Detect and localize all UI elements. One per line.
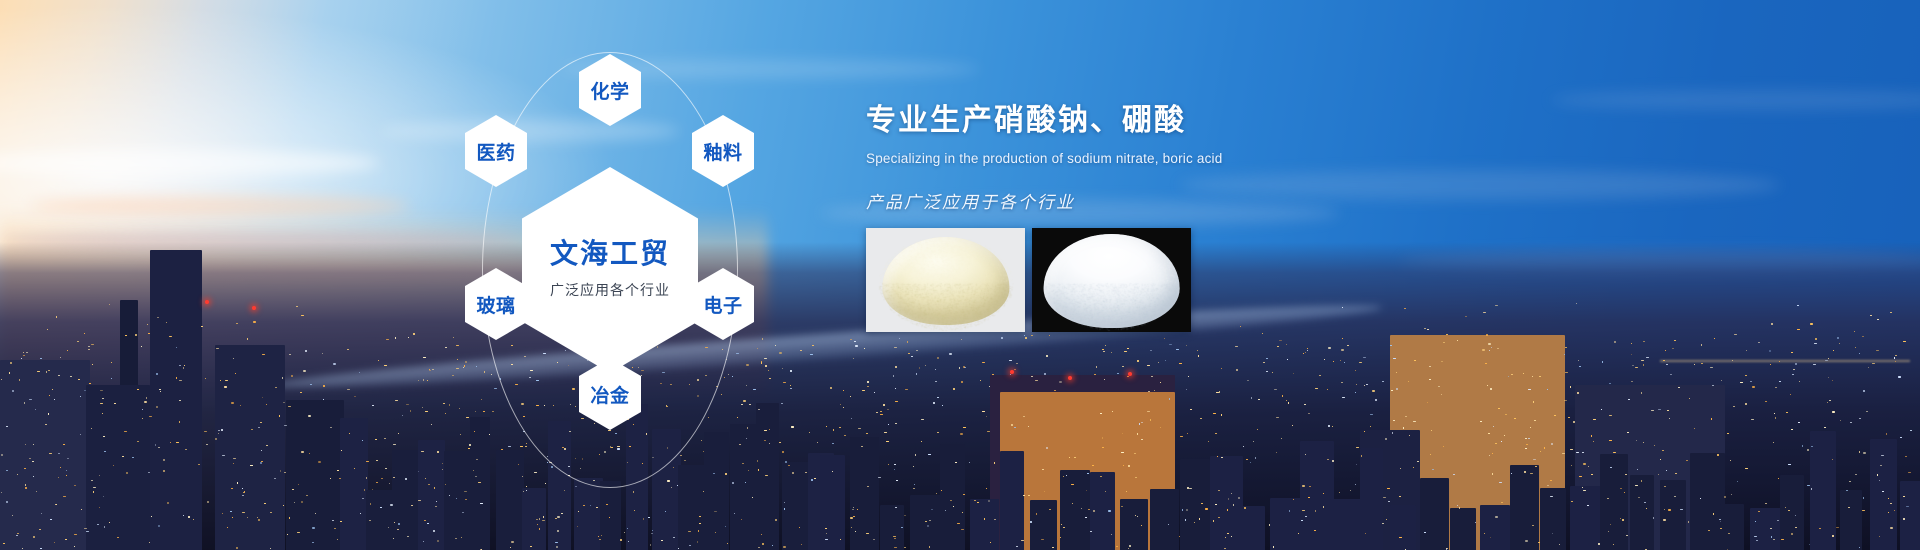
company-name: 文海工贸 (550, 240, 670, 268)
hex-node-label: 化学 (590, 77, 629, 104)
tagline: 产品广泛应用于各个行业 (866, 188, 1386, 213)
headline-block: 专业生产硝酸钠、硼酸 Specializing in the productio… (866, 104, 1386, 213)
product-photo-boric-acid[interactable] (1032, 228, 1191, 332)
product-photo-sodium-nitrate[interactable] (866, 228, 1025, 332)
subheadline: Specializing in the production of sodium… (866, 151, 1386, 166)
industry-hex-diagram: 化学 釉料 电子 冶金 玻璃 医药 文海工贸 广泛应用各个行业 (430, 20, 790, 520)
powder-grain-texture (866, 228, 1025, 332)
hex-node-label: 医药 (476, 138, 515, 165)
hex-node-label: 冶金 (590, 381, 629, 408)
promo-banner: 化学 釉料 电子 冶金 玻璃 医药 文海工贸 广泛应用各个行业 专业生产硝酸钠、… (0, 0, 1920, 550)
powder-grain-texture (1032, 228, 1191, 332)
product-photo-group (866, 228, 1191, 332)
hex-node-label: 玻璃 (476, 291, 515, 318)
company-tagline: 广泛应用各个行业 (550, 280, 670, 300)
headline: 专业生产硝酸钠、硼酸 (866, 104, 1386, 139)
hex-node-label: 釉料 (703, 138, 742, 165)
hex-node-label: 电子 (703, 291, 742, 318)
